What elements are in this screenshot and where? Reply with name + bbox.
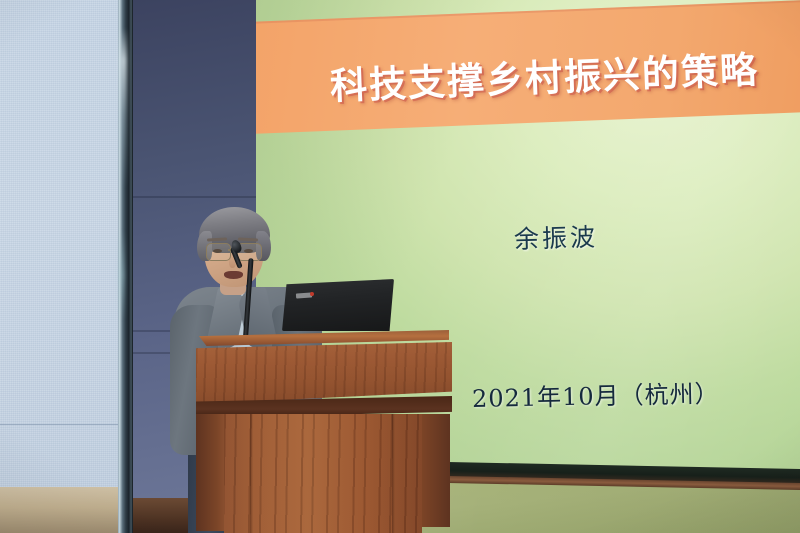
presentation-photo: 科技支撑乡村振兴的策略 余振波 2021年10月（杭州） [0, 0, 800, 533]
panel-seam [0, 424, 120, 425]
podium [196, 330, 452, 533]
podium-panel-seam [250, 414, 253, 533]
panel-fabric-texture [0, 0, 120, 533]
baseboard-left [0, 487, 122, 533]
eyeglasses-lens [206, 243, 231, 261]
wood-grain-texture [196, 342, 452, 404]
slide-author: 余振波 [513, 218, 598, 256]
slide-date-location: 2021年10月（杭州） [472, 374, 720, 414]
laptop-lid [282, 279, 394, 331]
metal-trim-column [118, 0, 133, 533]
laptop [282, 279, 394, 335]
podium-front-upper [196, 342, 452, 404]
wall-groove [133, 196, 263, 198]
podium-panel-seam [392, 414, 395, 533]
metal-reflection-highlight [120, 28, 127, 188]
speaker-mouth [224, 271, 243, 279]
metal-reflection-highlight [119, 230, 125, 320]
podium-front-panel [224, 414, 422, 533]
acoustic-wall-panel [0, 0, 120, 533]
podium-right-side [420, 414, 450, 527]
podium-left-side [196, 414, 226, 531]
